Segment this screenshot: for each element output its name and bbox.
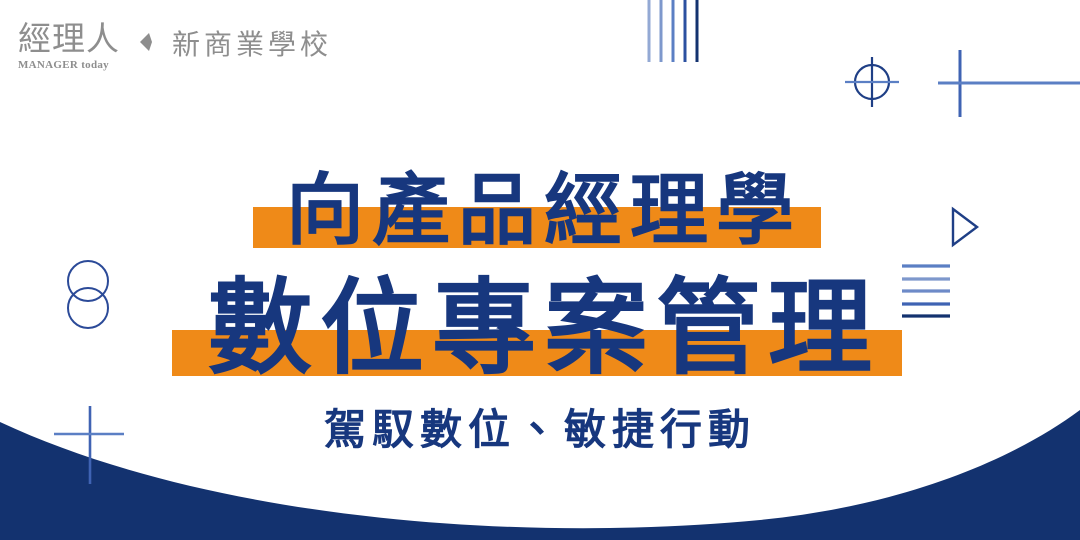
brand-sub-label: 新商業學校 xyxy=(172,23,332,63)
banner-subtitle: 駕馭數位、敏捷行動 xyxy=(0,396,1080,457)
brand-logo-latin-text: MANAGER today xyxy=(18,60,109,71)
course-banner: 經理人 MANAGER today 新商業學校 向產品經理學 數位專案管理 駕馭… xyxy=(0,0,1080,540)
headline-line-2-row: 數位專案管理 xyxy=(0,243,1080,394)
brand-logo-cjk-text: 經理人 xyxy=(18,22,120,57)
crosshair-decor xyxy=(843,53,901,111)
brand-header: 經理人 MANAGER today 新商業學校 xyxy=(18,22,332,71)
headline-line-2: 數位專案管理 xyxy=(200,243,880,394)
vertical-lines-decor xyxy=(645,0,705,62)
manager-today-logo: 經理人 MANAGER today xyxy=(18,22,120,71)
plus-mark-top-right-decor xyxy=(938,45,1080,127)
left-chevron-icon xyxy=(136,32,156,52)
